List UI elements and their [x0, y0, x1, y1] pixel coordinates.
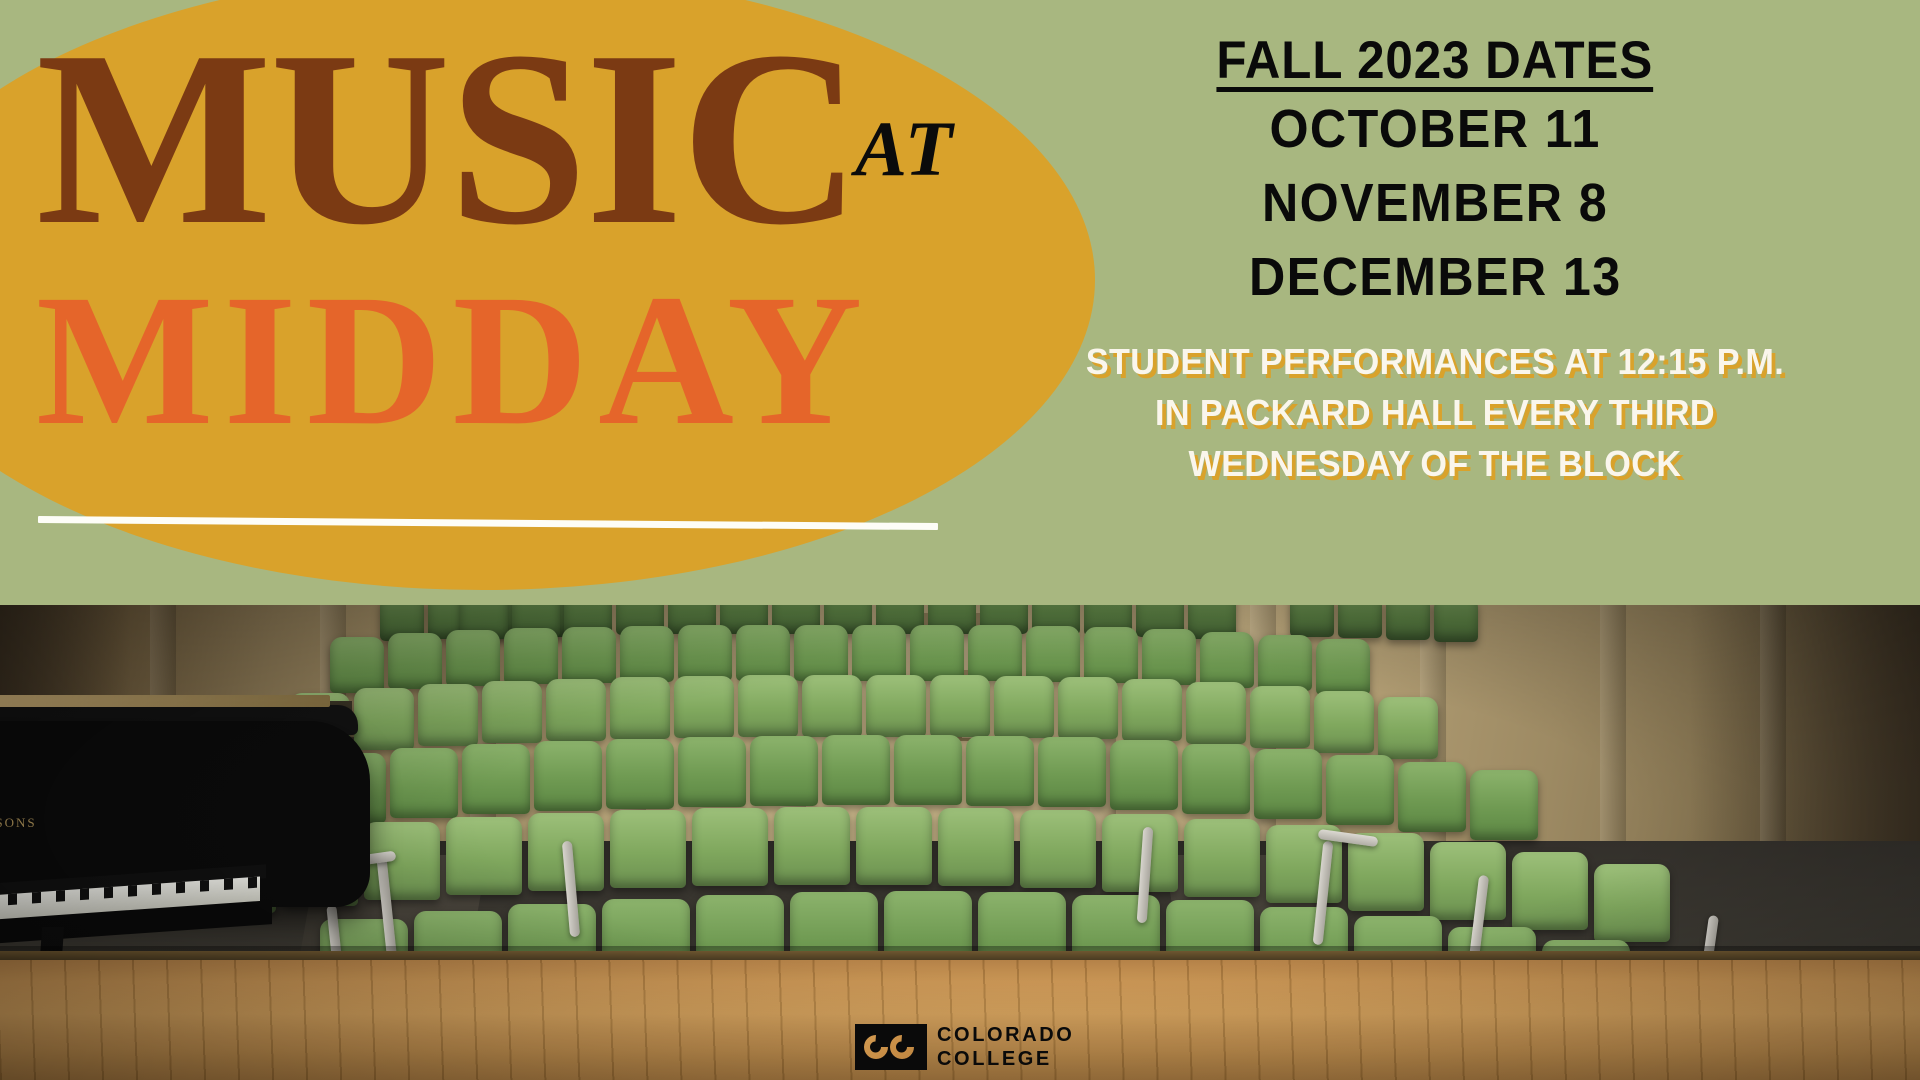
seat [866, 675, 926, 737]
seat [1338, 605, 1382, 638]
seat [1434, 605, 1478, 642]
seat [1386, 605, 1430, 640]
logo-wordmark: COLORADO COLLEGE [937, 1025, 1074, 1069]
seat [678, 737, 746, 807]
date-line-3: DECEMBER 13 [1249, 240, 1622, 314]
seat [994, 676, 1054, 738]
seat [1084, 627, 1138, 683]
seat [678, 625, 732, 681]
seat [606, 739, 674, 809]
seat [966, 736, 1034, 806]
seat [910, 625, 964, 681]
seat [852, 625, 906, 681]
seat [968, 625, 1022, 681]
seat [1378, 697, 1438, 759]
seat [1316, 639, 1370, 695]
logo-line-2: COLLEGE [937, 1049, 1074, 1069]
logo-line-1: COLORADO [937, 1025, 1074, 1045]
seat [1254, 749, 1322, 819]
seat [1430, 842, 1506, 920]
seat [504, 628, 558, 684]
seat [1314, 691, 1374, 753]
stage-edge [0, 951, 1920, 960]
seat [822, 735, 890, 805]
colorado-college-logo: COLORADO COLLEGE [855, 1024, 1074, 1070]
seat [482, 681, 542, 743]
grand-piano: & SONS [0, 665, 400, 965]
seat [446, 817, 522, 895]
seat [418, 684, 478, 746]
seat [736, 625, 790, 681]
auditorium-photo: & SONS [0, 605, 1920, 1080]
seat [446, 630, 500, 686]
seat [938, 808, 1014, 886]
seat [856, 807, 932, 885]
header-band: MUSIC AT MIDDAY FALL 2023 DATES OCTOBER … [0, 0, 1920, 606]
seat [750, 736, 818, 806]
seat [738, 675, 798, 737]
seat [1290, 605, 1334, 637]
seat [930, 675, 990, 737]
seat [610, 810, 686, 888]
seat [1594, 864, 1670, 942]
seat [692, 808, 768, 886]
seat [1058, 677, 1118, 739]
seat [802, 675, 862, 737]
seat [1512, 852, 1588, 930]
seat [1142, 629, 1196, 685]
title-at: AT [855, 110, 954, 188]
seat [534, 741, 602, 811]
seat [1122, 679, 1182, 741]
seat [1026, 626, 1080, 682]
date-line-1: OCTOBER 11 [1269, 92, 1600, 166]
seat [1258, 635, 1312, 691]
piano-music-desk [0, 695, 330, 707]
seat [1020, 810, 1096, 888]
seat [546, 679, 606, 741]
seat [1398, 762, 1466, 832]
title-music: MUSIC [36, 14, 956, 264]
title-block: MUSIC AT MIDDAY [0, 0, 980, 560]
title-midday: MIDDAY [36, 266, 996, 454]
seat [1326, 755, 1394, 825]
seat [462, 744, 530, 814]
seat [1110, 740, 1178, 810]
seat [1186, 682, 1246, 744]
cc-monogram-icon [855, 1024, 927, 1070]
seat [1184, 819, 1260, 897]
dates-heading: FALL 2023 DATES [1217, 30, 1654, 92]
seat [1250, 686, 1310, 748]
poster-root: MUSIC AT MIDDAY FALL 2023 DATES OCTOBER … [0, 0, 1920, 1080]
seat [620, 626, 674, 682]
seat [1470, 770, 1538, 840]
seat [610, 677, 670, 739]
seat [1200, 632, 1254, 688]
date-line-2: NOVEMBER 8 [1262, 166, 1608, 240]
seat [1182, 744, 1250, 814]
seat [894, 735, 962, 805]
seat [774, 807, 850, 885]
seat [794, 625, 848, 681]
info-block: FALL 2023 DATES OCTOBER 11 NOVEMBER 8 DE… [950, 0, 1920, 600]
piano-brand-mark: & SONS [0, 815, 37, 831]
event-details-text: STUDENT PERFORMANCES AT 12:15 P.M. IN PA… [1074, 336, 1796, 489]
title-underline-rule [38, 516, 938, 530]
seat [562, 627, 616, 683]
seat [390, 748, 458, 818]
seat [674, 676, 734, 738]
seat [1038, 737, 1106, 807]
